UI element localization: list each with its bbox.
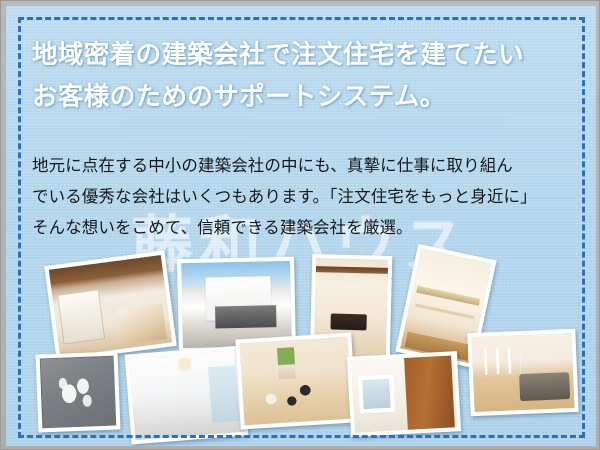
photo-whiteroom-image xyxy=(129,350,244,440)
body-copy: 地元に点在する中小の建築会社の中にも、真摯に仕事に取り組ん でいる優秀な会社はい… xyxy=(32,151,578,244)
body-line-3: そんな想いをこめて、信頼できる建築会社を厳選。 xyxy=(32,213,578,244)
promo-banner: 藤和ハウス 地域密着の建築会社で注文住宅を建てたい お客様のためのサポートシステ… xyxy=(0,0,600,450)
headline: 地域密着の建築会社で注文住宅を建てたい お客様のためのサポートシステム。 xyxy=(32,34,577,118)
photo-living xyxy=(467,329,578,416)
photo-living-image xyxy=(471,333,574,412)
headline-line-1: 地域密着の建築会社で注文住宅を建てたい xyxy=(32,34,577,76)
body-line-2: でいる優秀な会社はいくつもあります。「注文住宅をもっと身近に」 xyxy=(32,182,578,213)
photo-door xyxy=(347,351,461,437)
photo-kitchen xyxy=(44,251,176,362)
banner-canvas: 藤和ハウス 地域密着の建築会社で注文住宅を建てたい お客様のためのサポートシステ… xyxy=(6,6,596,446)
headline-line-2: お客様のためのサポートシステム。 xyxy=(32,76,577,118)
photo-plant-image xyxy=(240,337,353,425)
photo-exterior-image xyxy=(181,261,292,348)
photo-whiteroom xyxy=(125,346,249,445)
photo-kitchen-image xyxy=(49,255,173,357)
photo-handprint xyxy=(36,351,121,432)
photo-plant xyxy=(235,333,356,430)
photo-door-image xyxy=(351,355,457,432)
body-line-1: 地元に点在する中小の建築会社の中にも、真摯に仕事に取り組ん xyxy=(32,151,578,182)
photo-handprint-image xyxy=(40,356,117,429)
